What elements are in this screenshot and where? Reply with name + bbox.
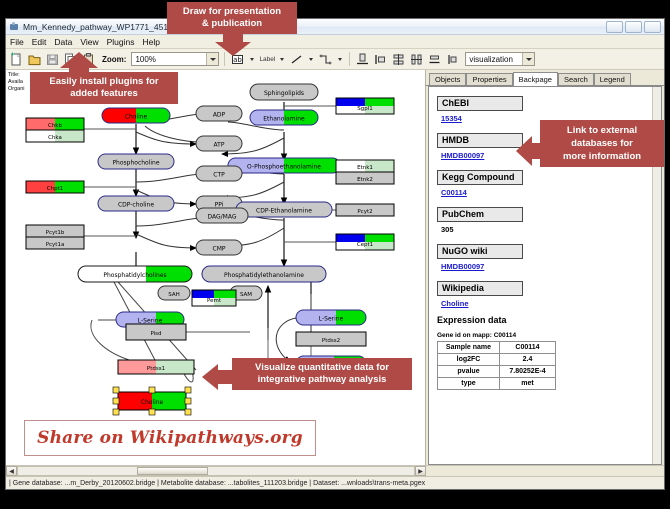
svg-text:L-Serine: L-Serine bbox=[138, 318, 163, 325]
exp-val-sample: C00114 bbox=[500, 342, 556, 354]
new-file-icon[interactable] bbox=[9, 52, 24, 67]
db-link-wikipedia[interactable]: Choline bbox=[441, 299, 653, 308]
exp-val-pvalue: 7.80252E-4 bbox=[500, 366, 556, 378]
svg-text:SAH: SAH bbox=[168, 292, 180, 298]
exp-key-log2fc: log2FC bbox=[438, 354, 500, 366]
toolbar-separator-2 bbox=[349, 52, 350, 66]
svg-text:CTP: CTP bbox=[213, 172, 225, 179]
exp-key-type: type bbox=[438, 378, 500, 390]
scrollbar-spacer bbox=[426, 466, 664, 476]
svg-text:ab: ab bbox=[234, 56, 243, 64]
db-link-kegg[interactable]: C00114 bbox=[441, 188, 653, 197]
svg-text:Phosphatidylcholines: Phosphatidylcholines bbox=[103, 272, 166, 279]
svg-text:Choline: Choline bbox=[141, 399, 164, 406]
window-controls bbox=[606, 21, 661, 33]
callout-links-line2: databases for bbox=[548, 137, 656, 150]
callout-plugins: Easily install plugins for added feature… bbox=[30, 72, 178, 104]
menu-data[interactable]: Data bbox=[54, 37, 72, 47]
callout-plugins-line1: Easily install plugins for bbox=[38, 76, 170, 88]
exp-val-type: met bbox=[500, 378, 556, 390]
svg-text:Pisd: Pisd bbox=[150, 331, 161, 337]
svg-text:Choline: Choline bbox=[125, 114, 148, 121]
distribute-horizontal-icon[interactable] bbox=[409, 52, 424, 67]
svg-text:CDP-choline: CDP-choline bbox=[118, 202, 154, 209]
status-text: | Gene database: ...m_Derby_20120602.bri… bbox=[9, 480, 425, 487]
svg-text:ADP: ADP bbox=[213, 112, 226, 119]
label-button[interactable]: Label bbox=[259, 56, 275, 63]
db-name-hmdb: HMDB bbox=[437, 133, 523, 148]
minimize-button[interactable] bbox=[606, 21, 623, 33]
db-group-nugo: NuGO wiki HMDB00097 bbox=[437, 241, 653, 271]
db-link-nugo[interactable]: HMDB00097 bbox=[441, 262, 653, 271]
zoom-label: Zoom: bbox=[102, 55, 126, 64]
menu-plugins[interactable]: Plugins bbox=[107, 37, 135, 47]
callout-share-text: Share on Wikipathways.org bbox=[37, 428, 303, 448]
connector-dropdown-icon[interactable] bbox=[336, 53, 344, 65]
svg-text:Pcyt1b: Pcyt1b bbox=[46, 230, 65, 236]
table-row: Sample name C00114 bbox=[438, 342, 556, 354]
svg-text:Etnk1: Etnk1 bbox=[357, 165, 373, 171]
stack-icon[interactable] bbox=[427, 52, 442, 67]
align-bottom-icon[interactable] bbox=[355, 52, 370, 67]
tool-bar: Zoom: 100% ab Label bbox=[6, 49, 664, 70]
exp-val-log2fc: 2.4 bbox=[500, 354, 556, 366]
scroll-right-icon[interactable]: ▶ bbox=[415, 466, 426, 476]
svg-text:Phosphatidylethanolamine: Phosphatidylethanolamine bbox=[224, 272, 304, 279]
callout-visualize-arrow bbox=[202, 364, 234, 390]
svg-text:CDP-Ethanolamine: CDP-Ethanolamine bbox=[256, 208, 312, 215]
svg-text:L-Serine: L-Serine bbox=[319, 316, 344, 323]
scroll-left-icon[interactable]: ◀ bbox=[6, 466, 17, 476]
pathway-canvas[interactable]: Title: Availa Organi bbox=[6, 70, 426, 465]
menu-edit[interactable]: Edit bbox=[32, 37, 47, 47]
table-row: pvalue 7.80252E-4 bbox=[438, 366, 556, 378]
status-bar: | Gene database: ...m_Derby_20120602.bri… bbox=[6, 476, 664, 489]
expression-data-title: Expression data bbox=[437, 315, 653, 325]
panel-tabs: Objects Properties Backpage Search Legen… bbox=[426, 70, 664, 86]
db-name-pubchem: PubChem bbox=[437, 207, 523, 222]
app-icon bbox=[9, 22, 19, 32]
visualization-chevron-down-icon[interactable] bbox=[522, 53, 534, 65]
save-icon[interactable] bbox=[45, 52, 60, 67]
svg-text:Chpt1: Chpt1 bbox=[47, 186, 63, 192]
tab-properties[interactable]: Properties bbox=[466, 73, 512, 85]
callout-draw-arrow bbox=[215, 32, 251, 56]
canvas-horizontal-scrollbar[interactable] bbox=[17, 466, 415, 476]
db-group-pubchem: PubChem 305 bbox=[437, 204, 653, 234]
db-name-nugo: NuGO wiki bbox=[437, 244, 523, 259]
anchor-icon[interactable] bbox=[445, 52, 460, 67]
table-row: log2FC 2.4 bbox=[438, 354, 556, 366]
close-button[interactable] bbox=[644, 21, 661, 33]
callout-visualize-line2: integrative pathway analysis bbox=[240, 374, 404, 386]
scrollbar-thumb[interactable] bbox=[137, 467, 208, 475]
expression-table: Sample name C00114 log2FC 2.4 pvalue 7.8… bbox=[437, 341, 556, 390]
db-group-kegg: Kegg Compound C00114 bbox=[437, 167, 653, 197]
menu-view[interactable]: View bbox=[80, 37, 98, 47]
svg-text:ATP: ATP bbox=[214, 142, 225, 149]
pathway-graph: Sphingolipids Choline bbox=[6, 70, 426, 465]
svg-text:Cept1: Cept1 bbox=[357, 242, 373, 248]
menu-file[interactable]: File bbox=[10, 37, 24, 47]
line-icon[interactable] bbox=[289, 52, 304, 67]
callout-links-line1: Link to external bbox=[548, 124, 656, 137]
callout-draw-line1: Draw for presentation bbox=[175, 6, 289, 18]
menu-bar: File Edit Data View Plugins Help bbox=[6, 35, 664, 49]
svg-text:Ptdss2: Ptdss2 bbox=[322, 338, 340, 344]
db-name-chebi: ChEBI bbox=[437, 96, 523, 111]
maximize-button[interactable] bbox=[625, 21, 642, 33]
svg-text:DAG/MAG: DAG/MAG bbox=[207, 214, 236, 221]
line-dropdown-icon[interactable] bbox=[307, 53, 315, 65]
callout-visualize: Visualize quantitative data for integrat… bbox=[232, 358, 412, 390]
visualization-value: visualization bbox=[469, 55, 513, 64]
db-name-wikipedia: Wikipedia bbox=[437, 281, 523, 296]
svg-text:SAM: SAM bbox=[240, 292, 252, 298]
open-folder-icon[interactable] bbox=[27, 52, 42, 67]
gene-id-line: Gene id on mapp: C00114 bbox=[437, 332, 653, 339]
svg-text:Sgpl1: Sgpl1 bbox=[357, 106, 373, 112]
svg-text:Etnk2: Etnk2 bbox=[357, 177, 373, 183]
tab-backpage[interactable]: Backpage bbox=[513, 72, 558, 86]
svg-text:Chkb: Chkb bbox=[48, 123, 63, 129]
exp-key-pvalue: pvalue bbox=[438, 366, 500, 378]
callout-visualize-line1: Visualize quantitative data for bbox=[240, 362, 404, 374]
db-value-pubchem: 305 bbox=[441, 225, 653, 234]
db-name-kegg: Kegg Compound bbox=[437, 170, 523, 185]
svg-text:Pcyt2: Pcyt2 bbox=[357, 209, 372, 215]
zoom-combo[interactable]: 100% bbox=[131, 52, 219, 66]
svg-text:Ethanolamine: Ethanolamine bbox=[263, 116, 305, 123]
callout-links: Link to external databases for more info… bbox=[540, 120, 664, 167]
svg-text:Ptdss1: Ptdss1 bbox=[147, 366, 165, 372]
distribute-vertical-icon[interactable] bbox=[391, 52, 406, 67]
callout-plugins-arrow bbox=[60, 52, 98, 76]
connector-icon[interactable] bbox=[318, 52, 333, 67]
svg-text:Pemt: Pemt bbox=[207, 298, 222, 304]
selected-node: Choline bbox=[113, 387, 191, 415]
exp-key-sample: Sample name bbox=[438, 342, 500, 354]
svg-text:O-Phosphoethanolamine: O-Phosphoethanolamine bbox=[247, 164, 321, 171]
canvas-scrollbar-row: ◀ ▶ bbox=[6, 465, 664, 476]
db-group-wikipedia: Wikipedia Choline bbox=[437, 278, 653, 308]
visualization-combo[interactable]: visualization bbox=[465, 52, 535, 66]
callout-links-line3: more information bbox=[548, 150, 656, 163]
callout-plugins-line2: added features bbox=[38, 88, 170, 100]
svg-text:Pcyt1a: Pcyt1a bbox=[46, 242, 65, 248]
db-group-chebi: ChEBI 15354 bbox=[437, 93, 653, 123]
label-dropdown-icon[interactable] bbox=[278, 53, 286, 65]
callout-links-arrow bbox=[516, 136, 544, 166]
svg-text:CMP: CMP bbox=[213, 246, 226, 253]
tab-objects[interactable]: Objects bbox=[429, 73, 466, 85]
align-left-icon[interactable] bbox=[373, 52, 388, 67]
callout-draw: Draw for presentation & publication bbox=[167, 2, 297, 34]
menu-help[interactable]: Help bbox=[143, 37, 160, 47]
title-bar: Mm_Kennedy_pathway_WP1771_45176.gpml bbox=[6, 19, 664, 35]
zoom-value: 100% bbox=[135, 55, 155, 64]
svg-text:Chka: Chka bbox=[48, 135, 62, 141]
tab-legend[interactable]: Legend bbox=[594, 73, 631, 85]
table-row: type met bbox=[438, 378, 556, 390]
callout-draw-line2: & publication bbox=[175, 18, 289, 30]
svg-text:Phosphocholine: Phosphocholine bbox=[112, 160, 159, 167]
callout-share-box: Share on Wikipathways.org bbox=[24, 420, 316, 456]
svg-text:Sphingolipids: Sphingolipids bbox=[264, 90, 304, 97]
svg-text:PPi: PPi bbox=[215, 202, 224, 209]
tab-search[interactable]: Search bbox=[558, 73, 594, 85]
